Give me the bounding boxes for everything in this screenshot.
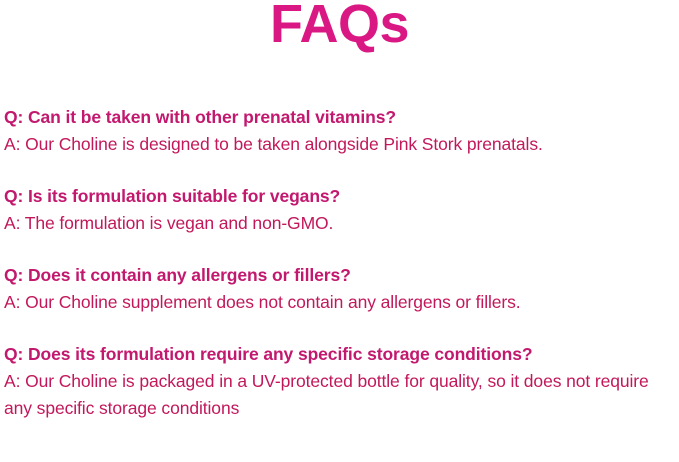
faq-item: Q: Can it be taken with other prenatal v… [4,104,676,158]
faq-page: FAQs Q: Can it be taken with other prena… [0,0,679,462]
page-title: FAQs [0,0,679,53]
faq-list: Q: Can it be taken with other prenatal v… [4,104,676,422]
faq-question: Q: Does its formulation require any spec… [4,341,676,368]
faq-answer: A: Our Choline is packaged in a UV-prote… [4,368,676,422]
faq-answer: A: Our Choline is designed to be taken a… [4,131,676,158]
faq-question: Q: Does it contain any allergens or fill… [4,262,676,289]
faq-question: Q: Is its formulation suitable for vegan… [4,183,676,210]
faq-answer: A: The formulation is vegan and non-GMO. [4,210,676,237]
faq-item: Q: Does it contain any allergens or fill… [4,262,676,316]
faq-answer: A: Our Choline supplement does not conta… [4,289,676,316]
faq-item: Q: Is its formulation suitable for vegan… [4,183,676,237]
faq-item: Q: Does its formulation require any spec… [4,341,676,422]
faq-question: Q: Can it be taken with other prenatal v… [4,104,676,131]
